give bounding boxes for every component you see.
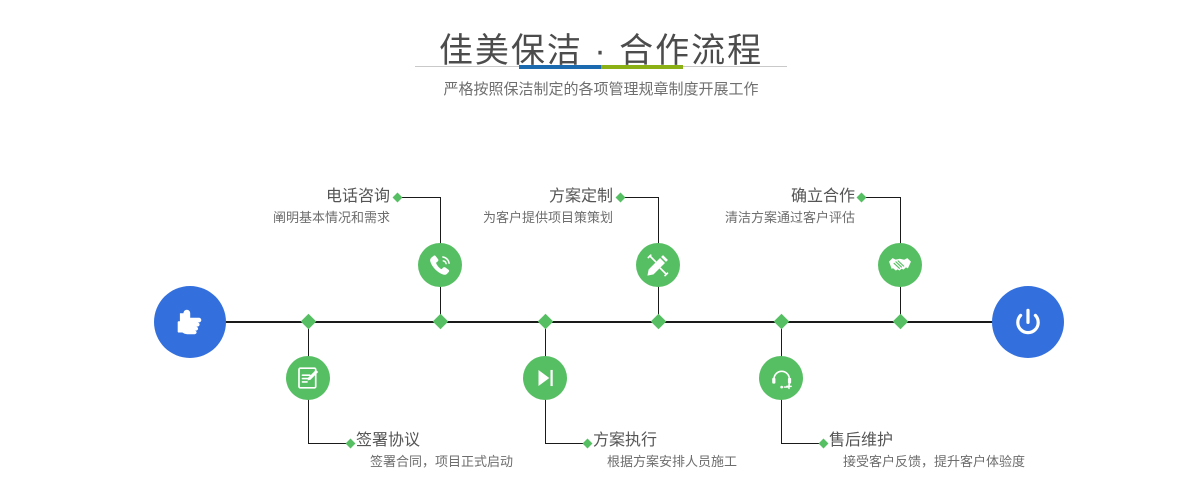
connector-tick-5 bbox=[857, 193, 867, 203]
pencil-ruler-icon bbox=[645, 252, 671, 278]
step-name-1: 电话咨询 bbox=[150, 186, 390, 208]
step-icon-4 bbox=[523, 356, 567, 400]
power-button-icon bbox=[1008, 302, 1048, 342]
divider-segment-green bbox=[601, 65, 683, 69]
connector-horizontal-3 bbox=[620, 197, 659, 198]
timeline-marker-5 bbox=[893, 314, 909, 330]
page-subtitle: 严格按照保洁制定的各项管理规章制度开展工作 bbox=[0, 79, 1202, 101]
step-icon-3 bbox=[636, 243, 680, 287]
timeline-marker-3 bbox=[651, 314, 667, 330]
step-label-4: 方案执行 根据方案安排人员施工 bbox=[593, 430, 853, 472]
timeline-end-node bbox=[992, 286, 1064, 358]
timeline-marker-2 bbox=[301, 314, 317, 330]
step-icon-5 bbox=[878, 243, 922, 287]
phone-call-icon bbox=[427, 252, 454, 279]
step-name-6: 售后维护 bbox=[829, 430, 1109, 452]
handshake-icon bbox=[887, 252, 913, 278]
timeline-start-node bbox=[154, 286, 226, 358]
step-desc-6: 接受客户反馈，提升客户体验度 bbox=[829, 452, 1109, 472]
step-label-2: 签署协议 签署合同，项目正式启动 bbox=[356, 430, 616, 472]
step-desc-3: 为客户提供项目策策划 bbox=[373, 208, 613, 228]
step-name-2: 签署协议 bbox=[356, 430, 616, 452]
timeline-marker-1 bbox=[433, 314, 449, 330]
connector-horizontal-4 bbox=[545, 443, 587, 444]
connector-horizontal-6 bbox=[781, 443, 823, 444]
title-divider bbox=[415, 65, 787, 69]
step-desc-4: 根据方案安排人员施工 bbox=[593, 452, 853, 472]
timeline-axis bbox=[160, 321, 1042, 323]
timeline-marker-4 bbox=[538, 314, 554, 330]
connector-horizontal-2 bbox=[308, 443, 350, 444]
step-icon-2 bbox=[286, 356, 330, 400]
step-desc-5: 清洁方案通过客户评估 bbox=[615, 208, 855, 228]
step-desc-1: 阐明基本情况和需求 bbox=[150, 208, 390, 228]
document-sign-icon bbox=[295, 365, 321, 391]
pointing-hand-icon bbox=[170, 302, 210, 342]
step-icon-6 bbox=[759, 356, 803, 400]
step-name-4: 方案执行 bbox=[593, 430, 853, 452]
play-skip-icon bbox=[533, 366, 557, 390]
connector-tick-2 bbox=[346, 439, 356, 449]
timeline-marker-6 bbox=[774, 314, 790, 330]
customer-service-add-icon bbox=[769, 366, 794, 391]
connector-horizontal-1 bbox=[397, 197, 441, 198]
step-desc-2: 签署合同，项目正式启动 bbox=[356, 452, 616, 472]
step-label-3: 方案定制 为客户提供项目策策划 bbox=[373, 186, 613, 228]
connector-horizontal-5 bbox=[861, 197, 901, 198]
step-icon-1 bbox=[418, 243, 462, 287]
step-label-5: 确立合作 清洁方案通过客户评估 bbox=[615, 186, 855, 228]
step-label-1: 电话咨询 阐明基本情况和需求 bbox=[150, 186, 390, 228]
step-label-6: 售后维护 接受客户反馈，提升客户体验度 bbox=[829, 430, 1109, 472]
process-flow-infographic: 佳美保洁 · 合作流程 严格按照保洁制定的各项管理规章制度开展工作 bbox=[0, 0, 1202, 502]
divider-segment-blue bbox=[519, 65, 601, 69]
